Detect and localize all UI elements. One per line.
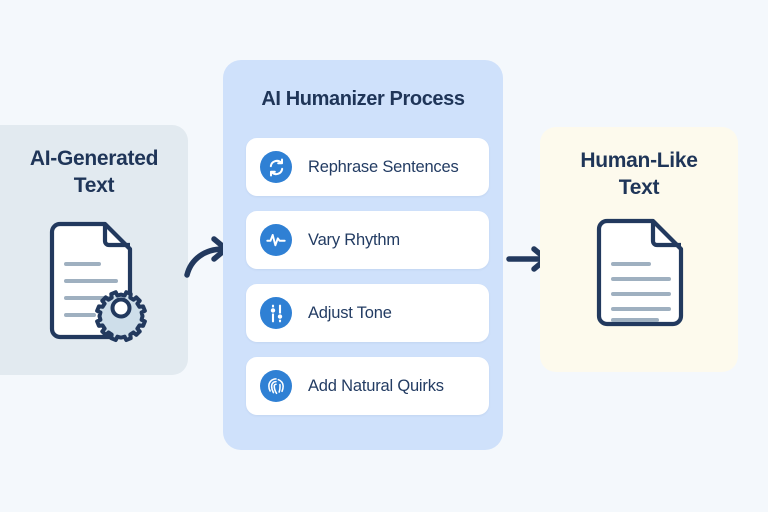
document-with-gear-icon <box>44 220 156 345</box>
left-panel-ai-generated-text: AI-Generated Text <box>0 125 188 375</box>
fingerprint-icon <box>260 370 292 402</box>
center-panel-ai-humanizer-process: AI Humanizer Process Rephrase Sentences <box>223 60 503 450</box>
right-panel-human-like-text: Human-Like Text <box>540 127 738 372</box>
refresh-cycle-icon <box>260 151 292 183</box>
process-step-card[interactable]: Add Natural Quirks <box>246 357 489 415</box>
left-panel-title-line1: AI-Generated <box>30 147 158 170</box>
process-step-card[interactable]: Vary Rhythm <box>246 211 489 269</box>
process-step-label: Rephrase Sentences <box>308 158 459 177</box>
sliders-icon <box>260 297 292 329</box>
process-step-list: Rephrase Sentences Vary Rhythm <box>246 138 489 430</box>
process-step-label: Vary Rhythm <box>308 231 400 250</box>
process-step-card[interactable]: Rephrase Sentences <box>246 138 489 196</box>
process-step-label: Add Natural Quirks <box>308 377 444 396</box>
process-step-label: Adjust Tone <box>308 304 392 323</box>
center-panel-title: AI Humanizer Process <box>223 88 503 111</box>
diagram-canvas: AI-Generated Text AI Humanizer Process <box>0 0 768 512</box>
document-icon <box>593 217 687 332</box>
left-panel-title: AI-Generated Text <box>0 145 188 200</box>
pulse-waveform-icon <box>260 224 292 256</box>
process-step-card[interactable]: Adjust Tone <box>246 284 489 342</box>
right-panel-title: Human-Like Text <box>540 147 738 202</box>
left-panel-title-line2: Text <box>74 174 114 197</box>
right-panel-title-line1: Human-Like <box>580 149 697 172</box>
right-panel-title-line2: Text <box>619 176 659 199</box>
